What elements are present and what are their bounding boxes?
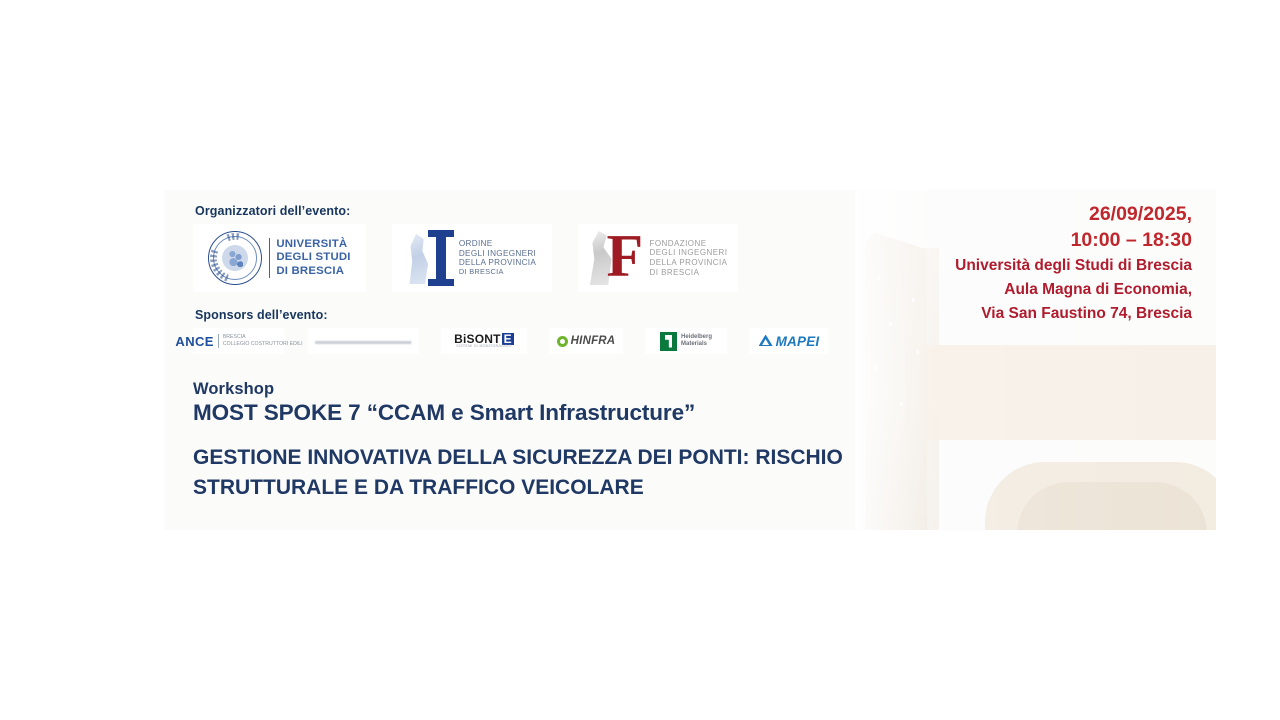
event-info-block: 26/09/2025, 10:00 – 18:30 Università deg…: [862, 202, 1192, 325]
page-canvas: Organizzatori dell’evento: UNIVERSITÀ DE…: [0, 0, 1280, 720]
heidelberg-mark-icon: [660, 332, 677, 351]
backdrop-arch-inner-shape: [1017, 482, 1207, 530]
organizer-logo-fondazione-degli-ingegneri: F FONDAZIONE DEGLI INGEGNERI DELLA PROVI…: [578, 224, 738, 292]
ordine-logo-text: ORDINE DEGLI INGEGNERI DELLA PROVINCIA D…: [459, 239, 536, 277]
ordine-logo-line-1: ORDINE: [459, 239, 536, 249]
ance-wordmark: ANCE: [175, 334, 213, 349]
poster-left-column: Organizzatori dell’evento: UNIVERSITÀ DE…: [193, 204, 893, 504]
fondazione-logo-text: FONDAZIONE DEGLI INGEGNERI DELLA PROVINC…: [650, 239, 728, 278]
unreadable-sponsor-wordmark: ▬▬▬▬▬▬▬▬▬▬: [315, 336, 411, 347]
backdrop-speck: [900, 402, 903, 406]
sponsor-logo-unreadable: ▬▬▬▬▬▬▬▬▬▬: [307, 328, 419, 354]
hinfra-wordmark: HINFRA: [571, 335, 616, 347]
ordine-logo-line-2: DEGLI INGEGNERI: [459, 249, 536, 259]
workshop-subtitle: GESTIONE INNOVATIVA DELLA SICUREZZA DEI …: [193, 443, 893, 504]
mapei-triangle-icon: [759, 335, 773, 348]
heidelberg-wordmark: Heidelberg Materials: [681, 334, 712, 349]
event-venue-line-1: Università degli Studi di Brescia: [862, 255, 1192, 277]
backdrop-block-shape: [920, 345, 1216, 440]
event-date: 26/09/2025,: [862, 202, 1192, 228]
event-time: 10:00 – 18:30: [862, 228, 1192, 254]
organizer-logo-universita-degli-studi-di-brescia: UNIVERSITÀ DEGLI STUDI DI BRESCIA: [193, 224, 366, 292]
bisonte-subtext: SISTEMI DI MONITORAGGIO: [454, 345, 514, 349]
university-logo-line-3: DI BRESCIA: [276, 265, 350, 278]
sponsor-logo-hinfra: HINFRA: [549, 328, 623, 354]
university-logo-text: UNIVERSITÀ DEGLI STUDI DI BRESCIA: [269, 238, 350, 278]
mapei-wordmark: MAPEI: [776, 334, 820, 349]
sponsor-logo-row: ANCE BRESCIA COLLEGIO COSTRUTTORI EDILI …: [193, 328, 893, 354]
workshop-title: MOST SPOKE 7 “CCAM e Smart Infrastructur…: [193, 400, 893, 426]
ordine-pillar-icon: [408, 230, 454, 286]
sponsor-logo-bisonte: BiSONTE SISTEMI DI MONITORAGGIO: [441, 328, 527, 354]
workshop-kicker: Workshop: [193, 380, 893, 399]
fondazione-logo-line-1: FONDAZIONE: [650, 239, 728, 249]
sponsors-label: Sponsors dell’evento:: [195, 308, 893, 322]
sponsor-logo-ance-brescia: ANCE BRESCIA COLLEGIO COSTRUTTORI EDILI: [193, 328, 285, 354]
event-venue-line-3: Via San Faustino 74, Brescia: [862, 303, 1192, 325]
organizer-logo-row: UNIVERSITÀ DEGLI STUDI DI BRESCIA: [193, 224, 893, 292]
ance-subtext: BRESCIA COLLEGIO COSTRUTTORI EDILI: [218, 334, 303, 348]
backdrop-speck: [916, 350, 919, 354]
headline-block: Workshop MOST SPOKE 7 “CCAM e Smart Infr…: [193, 380, 893, 504]
backdrop-arch-shape: [985, 462, 1216, 530]
university-seal-icon: [208, 231, 262, 285]
event-poster: Organizzatori dell’evento: UNIVERSITÀ DE…: [165, 190, 1216, 530]
event-venue-line-2: Aula Magna di Economia,: [862, 279, 1192, 301]
hinfra-ring-icon: [557, 336, 568, 347]
university-logo-line-1: UNIVERSITÀ: [276, 238, 350, 251]
fondazione-logo-line-2: DEGLI INGEGNERI: [650, 248, 728, 258]
sponsor-logo-heidelberg-materials: Heidelberg Materials: [645, 328, 727, 354]
ordine-logo-line-4: DI BRESCIA: [459, 268, 536, 277]
organizer-logo-ordine-degli-ingegneri: ORDINE DEGLI INGEGNERI DELLA PROVINCIA D…: [392, 224, 552, 292]
fondazione-logo-line-4: DI BRESCIA: [650, 268, 728, 278]
organizers-label: Organizzatori dell’evento:: [195, 204, 893, 218]
university-logo-line-2: DEGLI STUDI: [276, 251, 350, 264]
fondazione-f-monogram-icon: F: [589, 229, 641, 287]
sponsor-logo-mapei: MAPEI: [749, 328, 829, 354]
fondazione-logo-line-3: DELLA PROVINCIA: [650, 258, 728, 268]
